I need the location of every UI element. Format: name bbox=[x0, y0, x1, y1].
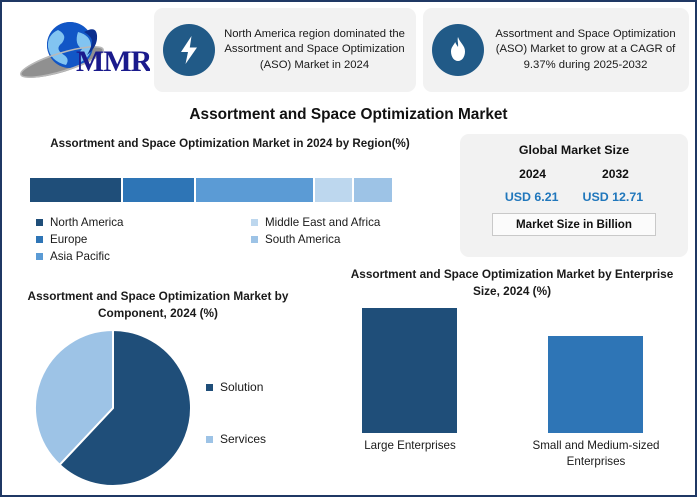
global-market-size-box: Global Market Size 2024 2032 USD 6.21 US… bbox=[460, 134, 688, 257]
global-market-size-values: USD 6.21 USD 12.71 bbox=[460, 190, 688, 204]
region-legend-item-4: South America bbox=[251, 233, 436, 246]
enterprise-bar-plot bbox=[332, 308, 692, 433]
legend-swatch-icon bbox=[36, 219, 43, 226]
gms-year-2024: 2024 bbox=[519, 167, 546, 181]
legend-swatch-icon bbox=[251, 236, 258, 243]
legend-swatch-icon bbox=[251, 219, 258, 226]
component-legend-item-1: Services bbox=[206, 432, 266, 446]
region-segment-1 bbox=[123, 178, 196, 202]
region-chart-panel: Assortment and Space Optimization Market… bbox=[10, 136, 450, 281]
enterprise-bar-sme-fill bbox=[548, 336, 643, 433]
region-segment-2 bbox=[196, 178, 315, 202]
region-legend-label: Europe bbox=[50, 233, 87, 246]
legend-swatch-icon bbox=[206, 436, 213, 443]
gms-value-2024: USD 6.21 bbox=[505, 190, 559, 204]
region-legend-label: North America bbox=[50, 216, 123, 229]
legend-swatch-icon bbox=[36, 253, 43, 260]
badge-cagr: Assortment and Space Optimization (ASO) … bbox=[423, 8, 689, 92]
region-segment-4 bbox=[354, 178, 392, 202]
enterprise-chart-title: Assortment and Space Optimization Market… bbox=[342, 266, 682, 300]
legend-swatch-icon bbox=[36, 236, 43, 243]
enterprise-bar-large-fill bbox=[362, 308, 457, 433]
component-legend-label: Services bbox=[220, 432, 266, 446]
region-chart-title: Assortment and Space Optimization Market… bbox=[10, 136, 450, 152]
region-legend-label: Asia Pacific bbox=[50, 250, 110, 263]
mmr-logo: MMR bbox=[18, 18, 150, 80]
enterprise-chart-panel: Assortment and Space Optimization Market… bbox=[332, 266, 692, 494]
component-pie-chart bbox=[30, 328, 196, 488]
region-legend-item-3: Middle East and Africa bbox=[251, 216, 436, 229]
global-market-size-title: Global Market Size bbox=[460, 143, 688, 157]
component-chart-legend: SolutionServices bbox=[206, 380, 266, 446]
badge-north-america-text: North America region dominated the Assor… bbox=[219, 27, 416, 73]
component-chart-title: Assortment and Space Optimization Market… bbox=[20, 288, 296, 322]
enterprise-bar-sme bbox=[548, 336, 643, 433]
gms-value-2032: USD 12.71 bbox=[583, 190, 644, 204]
region-stacked-bar bbox=[30, 178, 392, 202]
global-market-size-years: 2024 2032 bbox=[460, 167, 688, 181]
header: MMR North America region dominated the A… bbox=[2, 2, 695, 97]
region-legend-item-2: Asia Pacific bbox=[36, 250, 251, 263]
component-legend-item-0: Solution bbox=[206, 380, 266, 394]
enterprise-label-sme: Small and Medium-sized Enterprises bbox=[520, 438, 672, 470]
region-legend-label: Middle East and Africa bbox=[265, 216, 380, 229]
region-legend-item-1: Europe bbox=[36, 233, 251, 246]
legend-spacer bbox=[251, 250, 436, 263]
global-market-size-unit-note: Market Size in Billion bbox=[492, 213, 656, 236]
region-legend-item-0: North America bbox=[36, 216, 251, 229]
badge-north-america: North America region dominated the Assor… bbox=[154, 8, 416, 92]
region-segment-3 bbox=[315, 178, 354, 202]
svg-text:MMR: MMR bbox=[76, 45, 150, 78]
region-segment-0 bbox=[30, 178, 123, 202]
region-legend-label: South America bbox=[265, 233, 340, 246]
region-chart-legend: North AmericaMiddle East and AfricaEurop… bbox=[36, 216, 436, 263]
component-chart-panel: Assortment and Space Optimization Market… bbox=[8, 288, 308, 494]
flame-icon bbox=[432, 24, 484, 76]
enterprise-bar-large bbox=[362, 308, 457, 433]
badge-cagr-text: Assortment and Space Optimization (ASO) … bbox=[488, 27, 689, 73]
lightning-bolt-icon bbox=[163, 24, 215, 76]
page-title: Assortment and Space Optimization Market bbox=[2, 106, 695, 124]
gms-year-2032: 2032 bbox=[602, 167, 629, 181]
infographic-page: MMR North America region dominated the A… bbox=[0, 0, 697, 497]
component-legend-label: Solution bbox=[220, 380, 263, 394]
legend-swatch-icon bbox=[206, 384, 213, 391]
enterprise-label-large: Large Enterprises bbox=[340, 438, 480, 454]
